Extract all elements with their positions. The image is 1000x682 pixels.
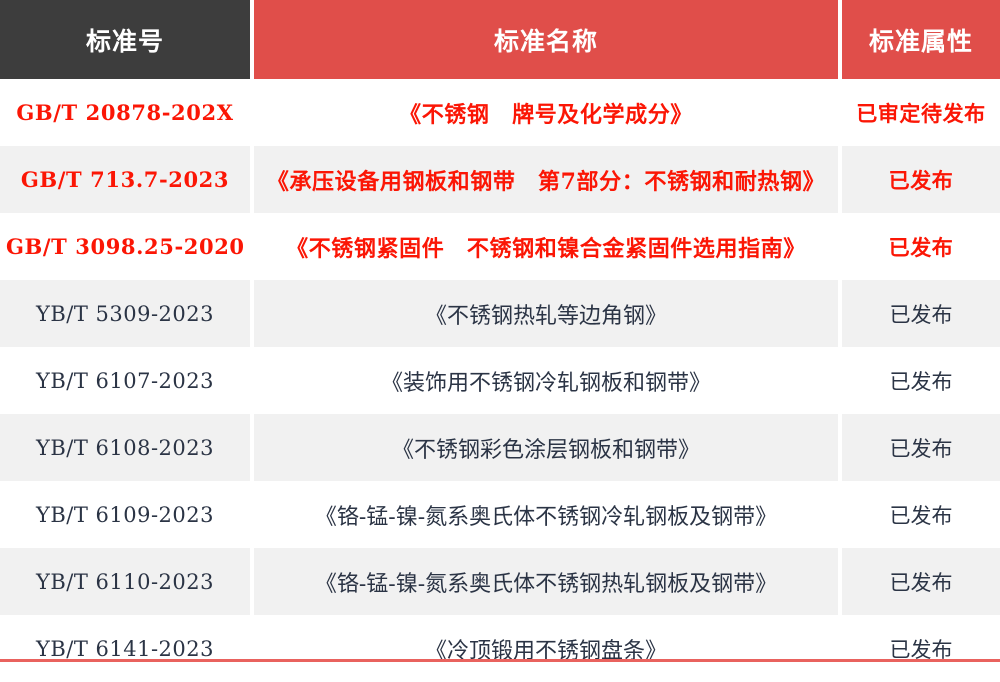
cell-standard-attribute: 已发布 bbox=[840, 213, 1000, 280]
cell-standard-attribute: 已发布 bbox=[840, 146, 1000, 213]
cell-standard-no: GB/T 713.7-2023 bbox=[0, 146, 252, 213]
table-row: YB/T 6107-2023《装饰用不锈钢冷轧钢板和钢带》已发布 bbox=[0, 347, 1000, 414]
cell-standard-no: YB/T 6107-2023 bbox=[0, 347, 252, 414]
cell-standard-attribute: 已发布 bbox=[840, 615, 1000, 682]
standards-table-container: 标准号 标准名称 标准属性 GB/T 20878-202X《不锈钢 牌号及化学成… bbox=[0, 0, 1000, 666]
cell-standard-no: YB/T 6108-2023 bbox=[0, 414, 252, 481]
cell-standard-name: 《铬-锰-镍-氮系奥氏体不锈钢冷轧钢板及钢带》 bbox=[252, 481, 840, 548]
cell-standard-no: YB/T 6141-2023 bbox=[0, 615, 252, 682]
cell-standard-attribute: 已发布 bbox=[840, 347, 1000, 414]
standards-table: 标准号 标准名称 标准属性 GB/T 20878-202X《不锈钢 牌号及化学成… bbox=[0, 0, 1000, 682]
column-header-standard-attribute: 标准属性 bbox=[840, 0, 1000, 79]
table-body: GB/T 20878-202X《不锈钢 牌号及化学成分》已审定待发布GB/T 7… bbox=[0, 79, 1000, 682]
cell-standard-attribute: 已发布 bbox=[840, 414, 1000, 481]
cell-standard-no: YB/T 6110-2023 bbox=[0, 548, 252, 615]
table-row: YB/T 5309-2023《不锈钢热轧等边角钢》已发布 bbox=[0, 280, 1000, 347]
cell-standard-name: 《承压设备用钢板和钢带 第7部分：不锈钢和耐热钢》 bbox=[252, 146, 840, 213]
cell-standard-name: 《冷顶锻用不锈钢盘条》 bbox=[252, 615, 840, 682]
table-row: YB/T 6110-2023《铬-锰-镍-氮系奥氏体不锈钢热轧钢板及钢带》已发布 bbox=[0, 548, 1000, 615]
cell-standard-attribute: 已审定待发布 bbox=[840, 79, 1000, 146]
cell-standard-name: 《不锈钢热轧等边角钢》 bbox=[252, 280, 840, 347]
table-header: 标准号 标准名称 标准属性 bbox=[0, 0, 1000, 79]
header-row: 标准号 标准名称 标准属性 bbox=[0, 0, 1000, 79]
cell-standard-no: GB/T 3098.25-2020 bbox=[0, 213, 252, 280]
cell-standard-name: 《不锈钢紧固件 不锈钢和镍合金紧固件选用指南》 bbox=[252, 213, 840, 280]
table-row: YB/T 6109-2023《铬-锰-镍-氮系奥氏体不锈钢冷轧钢板及钢带》已发布 bbox=[0, 481, 1000, 548]
cell-standard-attribute: 已发布 bbox=[840, 280, 1000, 347]
cell-standard-no: YB/T 6109-2023 bbox=[0, 481, 252, 548]
cell-standard-name: 《不锈钢 牌号及化学成分》 bbox=[252, 79, 840, 146]
cell-standard-no: GB/T 20878-202X bbox=[0, 79, 252, 146]
cell-standard-name: 《不锈钢彩色涂层钢板和钢带》 bbox=[252, 414, 840, 481]
table-row: GB/T 20878-202X《不锈钢 牌号及化学成分》已审定待发布 bbox=[0, 79, 1000, 146]
table-row: YB/T 6141-2023《冷顶锻用不锈钢盘条》已发布 bbox=[0, 615, 1000, 682]
table-row: GB/T 3098.25-2020《不锈钢紧固件 不锈钢和镍合金紧固件选用指南》… bbox=[0, 213, 1000, 280]
bottom-accent-rule bbox=[0, 659, 1000, 662]
cell-standard-no: YB/T 5309-2023 bbox=[0, 280, 252, 347]
cell-standard-name: 《装饰用不锈钢冷轧钢板和钢带》 bbox=[252, 347, 840, 414]
cell-standard-name: 《铬-锰-镍-氮系奥氏体不锈钢热轧钢板及钢带》 bbox=[252, 548, 840, 615]
cell-standard-attribute: 已发布 bbox=[840, 548, 1000, 615]
column-header-standard-name: 标准名称 bbox=[252, 0, 840, 79]
column-header-standard-no: 标准号 bbox=[0, 0, 252, 79]
table-row: YB/T 6108-2023《不锈钢彩色涂层钢板和钢带》已发布 bbox=[0, 414, 1000, 481]
table-row: GB/T 713.7-2023《承压设备用钢板和钢带 第7部分：不锈钢和耐热钢》… bbox=[0, 146, 1000, 213]
cell-standard-attribute: 已发布 bbox=[840, 481, 1000, 548]
